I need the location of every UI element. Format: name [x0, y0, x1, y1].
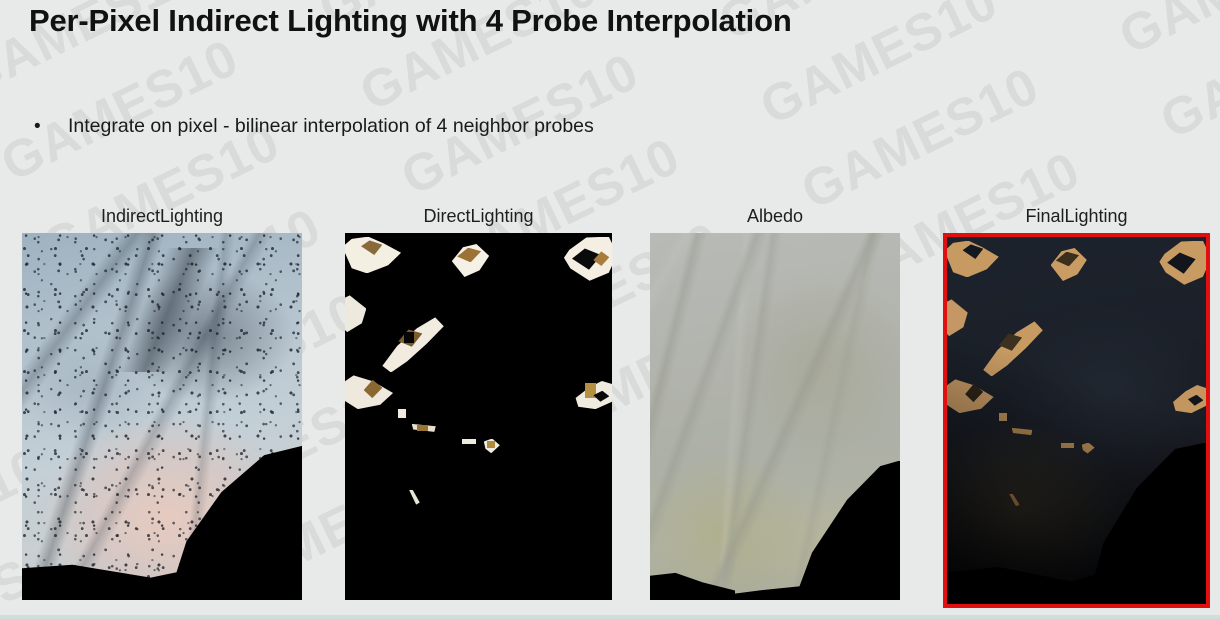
panel-label-final-lighting: FinalLighting [943, 205, 1210, 233]
panel-label-albedo: Albedo [650, 205, 900, 233]
panel-indirect-lighting: IndirectLighting [22, 205, 302, 600]
render-buffer-panel-strip: IndirectLighting DirectLighting [0, 205, 1220, 619]
highlight-patch [487, 441, 495, 448]
watermark-text: GAMES10 [775, 48, 1065, 231]
slide-root: GAMES10 GAMES10 GAMES10 GAMES10 GAMES10 … [0, 0, 1220, 619]
panel-image-direct-lighting [345, 233, 612, 600]
panel-direct-lighting: DirectLighting [345, 205, 612, 600]
watermark-text: GAMES10 [0, 20, 265, 203]
panel-label-indirect-lighting: IndirectLighting [22, 205, 302, 233]
panel-image-final-lighting [943, 233, 1210, 608]
bottom-accent-strip [0, 615, 1220, 619]
panel-albedo: Albedo [650, 205, 900, 600]
bullet-list-item: • Integrate on pixel - bilinear interpol… [34, 113, 594, 140]
highlight-patch [404, 332, 415, 343]
panel-image-albedo [650, 233, 900, 600]
highlight-patch [462, 439, 475, 445]
watermark-text: GAMES10 [1134, 0, 1220, 160]
bullet-text: Integrate on pixel - bilinear interpolat… [68, 113, 594, 139]
panel-final-lighting: FinalLighting [943, 205, 1210, 608]
slide-title: Per-Pixel Indirect Lighting with 4 Probe… [29, 0, 792, 42]
bullet-marker-icon: • [34, 114, 68, 140]
highlight-patch [417, 425, 428, 431]
panel-label-direct-lighting: DirectLighting [345, 205, 612, 233]
panel-image-indirect-lighting [22, 233, 302, 600]
highlight-patch [398, 409, 406, 418]
watermark-text: GAMES10 [1093, 0, 1220, 75]
direct-base-layer [345, 233, 612, 600]
